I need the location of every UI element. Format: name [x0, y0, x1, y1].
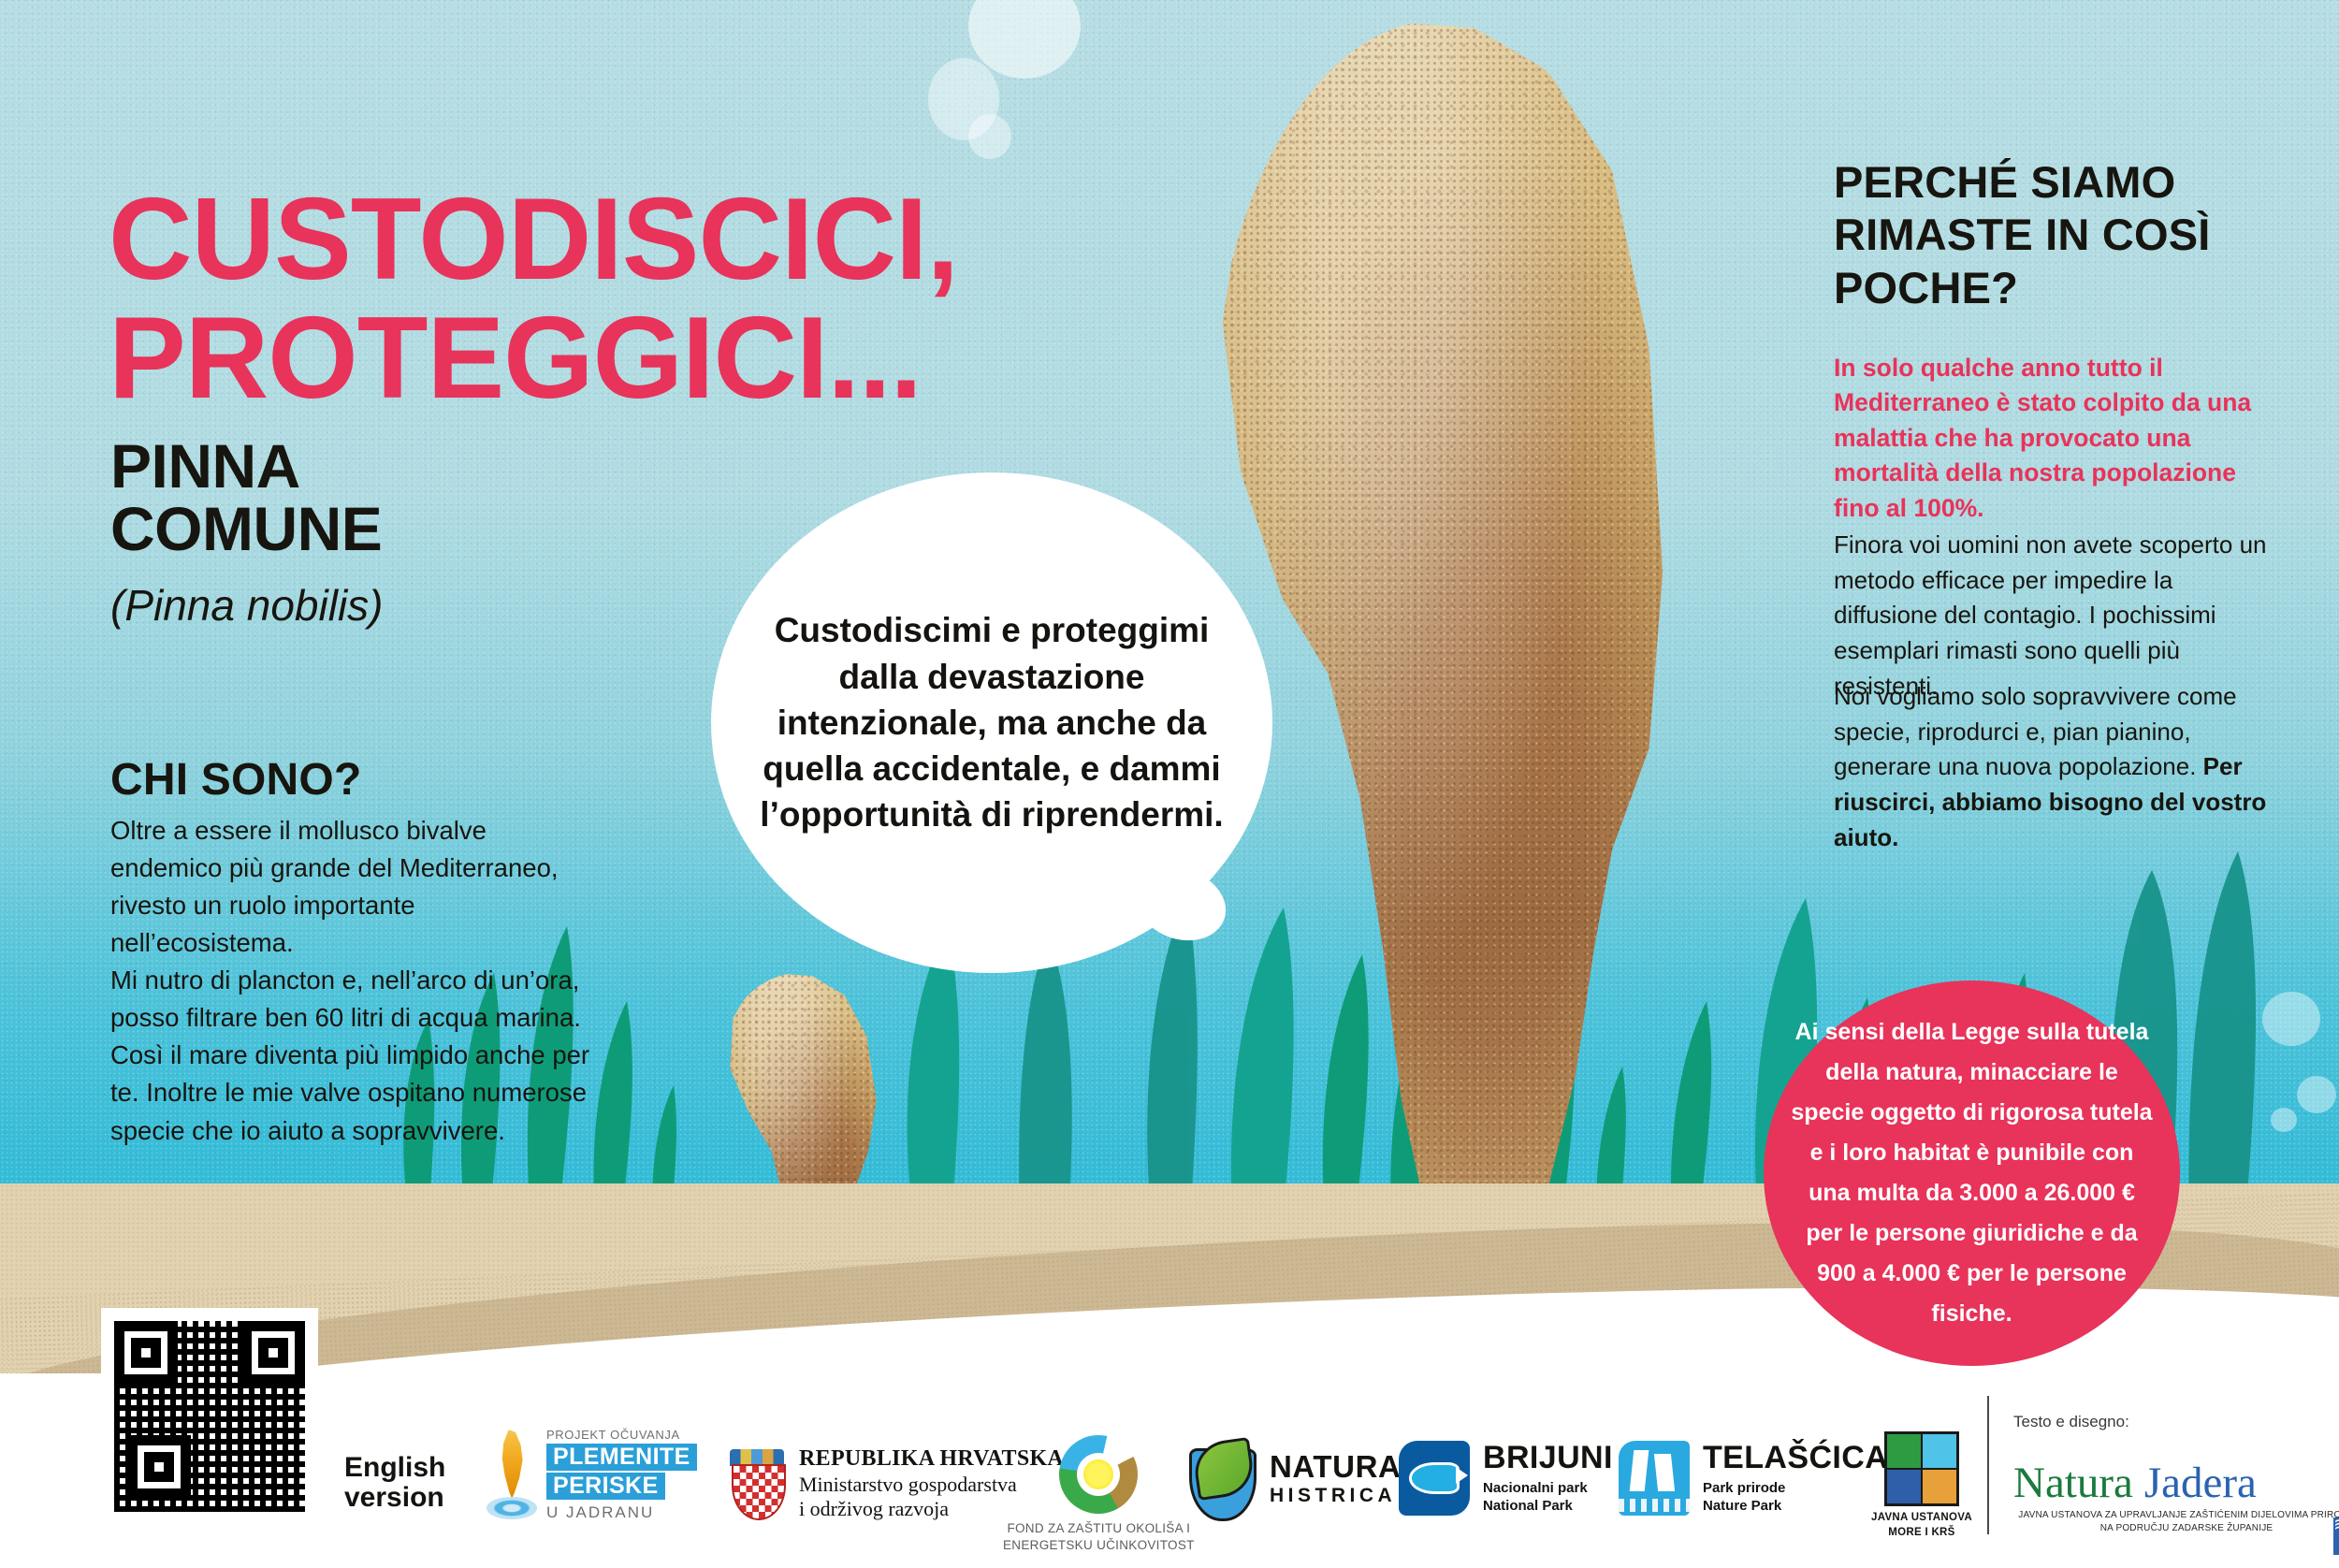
logo-brijuni-line-3: National Park: [1483, 1498, 1573, 1514]
logo-periske-bar-2: PERISKE: [546, 1473, 665, 1500]
section-body-pink-mortality: In solo qualche anno tutto il Mediterran…: [1834, 351, 2274, 527]
logo-natura-jadera-row: NaturaJadera JAVNA USTANOVA ZA UPRAVLJAN…: [2013, 1441, 2339, 1555]
shell-drop-icon: [487, 1430, 537, 1519]
four-quadrant-nature-icon: [1884, 1431, 1959, 1506]
law-notice-circle: Ai sensi della Legge sulla tutela della …: [1764, 980, 2180, 1366]
section-heading-chi-sono: CHI SONO?: [110, 754, 361, 806]
logo-nj-name: NaturaJadera: [2013, 1461, 2339, 1505]
sun-icon: [1083, 1459, 1113, 1489]
quadrant-sun-icon: [1922, 1469, 1957, 1504]
logo-nh-line-2: HISTRICA: [1270, 1485, 1401, 1507]
species-scientific-name: (Pinna nobilis): [110, 580, 690, 631]
species-common-name-line-1: PINNA: [110, 431, 300, 501]
logo-brijuni-sub: Nacionalni park National Park: [1483, 1479, 1613, 1516]
page-title-line-1: CUSTODISCICI,: [109, 175, 958, 304]
speech-bubble-text: Custodiscimi e proteggimi dalla devastaz…: [711, 607, 1272, 837]
brijuni-badge: [1399, 1441, 1470, 1516]
logo-nj-subtitle: JAVNA USTANOVA ZA UPRAVLJANJE ZAŠTIĆENIM…: [2013, 1509, 2339, 1535]
cliffs-badge-icon: [1619, 1441, 1690, 1516]
quadrant-wave-icon: [1886, 1469, 1922, 1504]
logo-nj-name-part-1: Natura: [2013, 1459, 2133, 1507]
fish-icon: [1409, 1462, 1460, 1494]
speech-bubble: Custodiscimi e proteggimi dalla devastaz…: [711, 472, 1272, 973]
logo-nj-name-part-2: Jadera: [2144, 1459, 2257, 1507]
qr-code[interactable]: [101, 1308, 318, 1525]
coat-of-arms-checkerboard-shield: [732, 1464, 786, 1520]
logo-more-i-krs-text: JAVNA USTANOVA MORE I KRŠ: [1871, 1511, 1972, 1540]
waves-icon: ≋: [2333, 1517, 2339, 1555]
cliff-shape-left: [1630, 1450, 1649, 1491]
section-heading-perche-siamo-rimaste: PERCHÉ SIAMO RIMASTE IN COSÌ POCHE?: [1834, 156, 2274, 314]
fond-swirl-icon: [1059, 1435, 1138, 1514]
law-notice-text: Ai sensi della Legge sulla tutela della …: [1764, 1012, 2180, 1334]
water-ripple-icon: [487, 1497, 537, 1519]
logo-telascica-text: TELAŠĆICA Park prirode Nature Park: [1703, 1441, 1888, 1515]
poster-root: CUSTODISCICI, PROTEGGICI... PINNA COMUNE…: [0, 0, 2339, 1568]
logo-plemenite-periske-text: PROJEKT OČUVANJA PLEMENITE PERISKE U JAD…: [546, 1429, 697, 1520]
qr-caption-line-2: version: [344, 1482, 444, 1513]
logo-natura-jadera: Testo e disegno: NaturaJadera JAVNA USTA…: [2013, 1413, 2339, 1555]
section-body-chi-sono: Oltre a essere il mollusco bivalve endem…: [110, 812, 597, 1150]
logo-fond-line-1: FOND ZA ZAŠTITU OKOLIŠA I: [1003, 1520, 1195, 1537]
logo-telascica-sub: Park prirode Nature Park: [1703, 1479, 1888, 1516]
logo-natura-jadera-wordmark: NaturaJadera JAVNA USTANOVA ZA UPRAVLJAN…: [2013, 1461, 2339, 1535]
logo-telascica-line-2: Park prirode: [1703, 1480, 1785, 1496]
logo-plemenite-periske: PROJEKT OČUVANJA PLEMENITE PERISKE U JAD…: [487, 1429, 697, 1520]
appeal-normal-text: Noi vogliamo solo sopravvivere come spec…: [1834, 682, 2237, 780]
qr-finder-bottom-left: [127, 1435, 191, 1499]
section-body-appeal: Noi vogliamo solo sopravvivere come spec…: [1834, 679, 2283, 855]
species-common-name-line-2: COMUNE: [110, 494, 382, 563]
logo-brijuni-line-2: Nacionalni park: [1483, 1480, 1588, 1496]
logo-nh-line-1: NATURA: [1270, 1450, 1401, 1485]
quadrant-cloud-icon: [1922, 1433, 1957, 1469]
credit-label: Testo e disegno:: [2013, 1413, 2129, 1431]
logo-mik-line-2: MORE I KRŠ: [1871, 1526, 1972, 1541]
logo-brijuni: BRIJUNI Nacionalni park National Park: [1399, 1441, 1613, 1516]
logo-telascica-line-3: Nature Park: [1703, 1498, 1781, 1514]
logo-mik-line-1: JAVNA USTANOVA: [1871, 1511, 1972, 1526]
page-title: CUSTODISCICI, PROTEGGICI...: [109, 181, 1213, 417]
logo-fond-zastitu-okolisa: FOND ZA ZAŠTITU OKOLIŠA I ENERGETSKU UČI…: [1003, 1435, 1195, 1554]
logo-natura-histrica: NATURA HISTRICA: [1184, 1439, 1401, 1517]
logo-telascica: TELAŠĆICA Park prirode Nature Park: [1619, 1441, 1888, 1516]
logo-fond-text: FOND ZA ZAŠTITU OKOLIŠA I ENERGETSKU UČI…: [1003, 1520, 1195, 1554]
quadrant-leaf-icon: [1886, 1433, 1922, 1469]
shell-drop-body: [496, 1430, 528, 1499]
croatian-coat-of-arms-icon: [728, 1449, 786, 1518]
leaf-cup-icon: [1184, 1439, 1258, 1517]
fond-inner-circle: [1077, 1453, 1120, 1496]
species-common-name: PINNA COMUNE: [110, 435, 634, 561]
logo-brijuni-text: BRIJUNI Nacionalni park National Park: [1483, 1441, 1613, 1515]
logo-periske-bar-1: PLEMENITE: [546, 1444, 697, 1471]
qr-code-pattern: [114, 1321, 305, 1512]
wave-icon: [1619, 1499, 1690, 1512]
section-body-contagion: Finora voi uomini non avete scoperto un …: [1834, 528, 2283, 704]
waves-glyph: ≋: [2333, 1515, 2339, 1535]
logo-telascica-line-1: TELAŠĆICA: [1703, 1441, 1888, 1475]
logo-javna-ustanova-more-i-krs: JAVNA USTANOVA MORE I KRŠ: [1871, 1431, 1972, 1540]
cliff-shape-right: [1654, 1454, 1675, 1491]
qr-caption-english-version: English version: [344, 1453, 475, 1514]
logo-fond-line-2: ENERGETSKU UČINKOVITOST: [1003, 1537, 1195, 1554]
logo-natura-histrica-text: NATURA HISTRICA: [1270, 1450, 1401, 1506]
qr-caption-line-1: English: [344, 1452, 445, 1483]
footer-divider: [1987, 1396, 1989, 1534]
logo-periske-bottom-line: U JADRANU: [546, 1504, 697, 1520]
logo-periske-top-line: PROJEKT OČUVANJA: [546, 1429, 697, 1441]
logo-brijuni-line-1: BRIJUNI: [1483, 1441, 1613, 1475]
page-title-line-2: PROTEGGICI...: [109, 299, 1213, 417]
